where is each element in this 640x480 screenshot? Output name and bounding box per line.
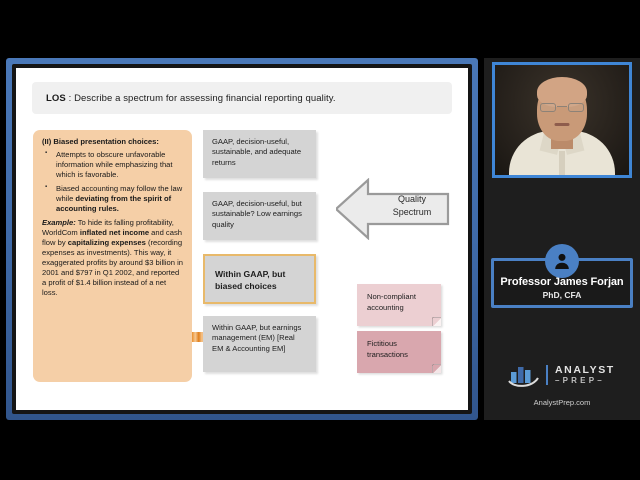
panel-title: (II) Biased presentation choices: <box>42 137 183 146</box>
presenter-video[interactable] <box>492 62 632 178</box>
video-feed <box>495 65 629 175</box>
lens-left <box>540 103 556 112</box>
quality-spectrum-arrow: Quality Spectrum <box>336 178 456 240</box>
logo-primary-text: ANALYST <box>555 365 615 376</box>
presenter-credentials: PhD, CFA <box>543 290 582 300</box>
quality-spectrum-label: Quality Spectrum <box>376 193 448 219</box>
list-item: Attempts to obscure unfavorable informat… <box>44 150 183 180</box>
person-icon <box>552 251 572 271</box>
quality-spectrum-line-1: Quality <box>398 194 426 204</box>
brand-logo: ANALYST –PREP– <box>508 362 620 388</box>
folded-corner-icon <box>432 364 441 373</box>
avatar <box>545 244 579 278</box>
slide-canvas: LOS : Describe a spectrum for assessing … <box>16 68 468 410</box>
spectrum-box-3-highlighted: Within GAAP, but biased choices <box>203 254 316 304</box>
shirt-placket <box>559 151 565 175</box>
panel-example: Example: To hide its falling profitabili… <box>42 218 183 298</box>
los-separator: : <box>66 93 74 104</box>
example-label: Example: <box>42 218 76 227</box>
los-description: Describe a spectrum for assessing financ… <box>74 93 336 104</box>
biased-presentation-panel: (II) Biased presentation choices: Attemp… <box>33 130 192 382</box>
lens-bridge <box>557 106 567 107</box>
spectrum-box-2: GAAP, decision-useful, but sustainable? … <box>203 192 316 240</box>
bar-chart-logo-icon <box>508 362 542 388</box>
logo-divider <box>546 365 548 385</box>
logo-secondary-text: –PREP– <box>555 376 615 385</box>
spectrum-box-1: GAAP, decision-useful, sustainable, and … <box>203 130 316 178</box>
screen-root: LOS : Describe a spectrum for assessing … <box>0 0 640 480</box>
los-header-box: LOS : Describe a spectrum for assessing … <box>32 82 452 114</box>
eyeglasses-icon <box>540 103 584 112</box>
noncompliant-box-1-text: Non-compliant accounting <box>367 292 416 312</box>
los-label: LOS <box>46 93 66 104</box>
quality-spectrum-line-2: Spectrum <box>393 207 432 217</box>
los-header-text: LOS : Describe a spectrum for assessing … <box>46 93 336 104</box>
list-item: Biased accounting may follow the law whi… <box>44 184 183 214</box>
spectrum-box-4: Within GAAP, but earnings management (EM… <box>203 316 316 372</box>
lens-right <box>568 103 584 112</box>
noncompliant-box-1: Non-compliant accounting <box>357 284 441 326</box>
noncompliant-box-2: Fictitious transactions <box>357 331 441 373</box>
noncompliant-box-2-text: Fictitious transactions <box>367 339 408 359</box>
presenter-mouth <box>555 123 570 126</box>
panel-bullet-list: Attempts to obscure unfavorable informat… <box>44 150 183 214</box>
brand-website: AnalystPrep.com <box>484 398 640 407</box>
folded-corner-icon <box>432 317 441 326</box>
logo-wordmark: ANALYST –PREP– <box>555 365 615 385</box>
